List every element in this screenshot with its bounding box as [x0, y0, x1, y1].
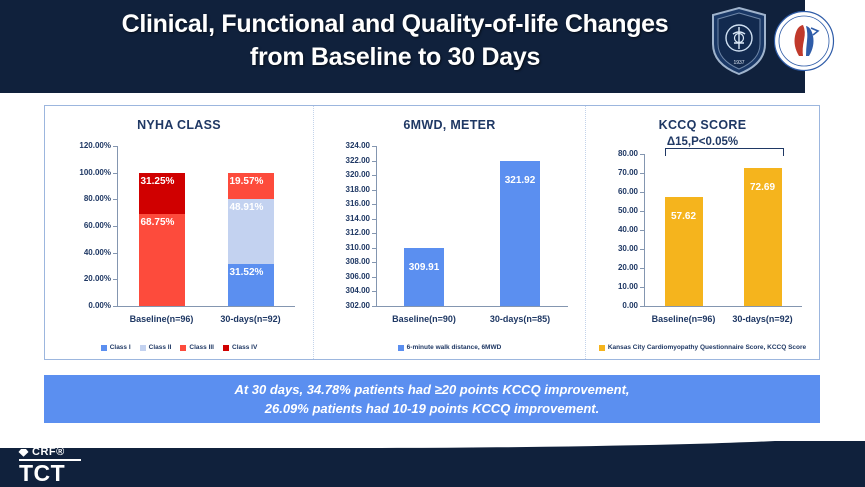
bar-segment: 68.75%: [139, 214, 185, 306]
tct-label: TCT: [19, 461, 81, 485]
plot-area-kccq: 80.0070.0060.0050.0040.0030.0020.0010.00…: [600, 154, 802, 306]
y-axis-tick-label: 10.00: [600, 282, 638, 291]
bar: 72.69: [744, 168, 782, 306]
conclusion-text: At 30 days, 34.78% patients had ≥20 poin…: [234, 380, 629, 418]
y-axis-tick: [372, 262, 376, 263]
y-axis-tick: [372, 161, 376, 162]
x-axis-category-label: Baseline(n=90): [369, 314, 479, 324]
y-axis-tick-label: 70.00: [600, 168, 638, 177]
bar-value-label: 57.62: [665, 211, 703, 222]
y-axis-tick-label: 60.00: [600, 187, 638, 196]
y-axis-tick-label: 302.00: [328, 301, 370, 310]
slide-footer: CRF® TCT: [0, 441, 865, 487]
y-axis-tick: [372, 277, 376, 278]
x-axis-line: [376, 306, 568, 307]
conclusion-line-2: 26.09% patients had 10-19 points KCCQ im…: [234, 399, 629, 418]
legend-label: Class II: [149, 344, 172, 351]
national-center-circular-logo: [773, 10, 835, 72]
y-axis-line: [117, 146, 118, 306]
y-axis-tick: [372, 248, 376, 249]
y-axis-tick: [640, 173, 644, 174]
legend-label: Class IV: [232, 344, 257, 351]
y-axis-tick: [640, 154, 644, 155]
bar-segment: 31.52%: [228, 264, 274, 306]
footer-brand-logo: CRF® TCT: [18, 446, 81, 485]
y-axis-tick: [113, 199, 117, 200]
legend-swatch: [223, 345, 229, 351]
legend-swatch: [180, 345, 186, 351]
chart-title-kccq: KCCQ SCORE: [586, 118, 819, 132]
y-axis-line: [376, 146, 377, 306]
bar-segment: 48.91%: [228, 199, 274, 264]
charts-panel: NYHA CLASS 120.00%100.00%80.00%60.00%40.…: [44, 105, 820, 360]
y-axis-tick: [372, 190, 376, 191]
bar: 57.62: [665, 197, 703, 306]
chart-title-nyha: NYHA CLASS: [45, 118, 313, 132]
y-axis-tick: [372, 306, 376, 307]
page-title-line-2: from Baseline to 30 Days: [0, 41, 790, 74]
bar-segment: 31.25%: [139, 173, 185, 215]
y-axis-tick: [372, 219, 376, 220]
legend-item[interactable]: Class II: [140, 344, 172, 351]
y-axis-tick: [372, 291, 376, 292]
y-axis-tick-label: 0.00%: [63, 301, 111, 310]
page-title-line-1: Clinical, Functional and Quality-of-life…: [0, 8, 790, 41]
y-axis-tick-label: 40.00%: [63, 248, 111, 257]
crf-label: CRF®: [32, 446, 65, 458]
legend-label: Class III: [189, 344, 214, 351]
y-axis-tick: [113, 306, 117, 307]
y-axis-tick: [372, 146, 376, 147]
y-axis-tick-label: 322.00: [328, 156, 370, 165]
legend-label: Kansas City Cardiomyopathy Questionnaire…: [608, 344, 806, 351]
legend-label: 6-minute walk distance, 6MWD: [407, 344, 502, 351]
institution-shield-logo: 1937: [710, 6, 768, 76]
bar-segment: 19.57%: [228, 173, 274, 199]
y-axis-tick: [640, 287, 644, 288]
shield-year-label: 1937: [733, 60, 744, 66]
x-axis-category-label: 30-days(n=85): [465, 314, 575, 324]
y-axis-tick-label: 20.00%: [63, 274, 111, 283]
y-axis-tick-label: 60.00%: [63, 221, 111, 230]
y-axis-tick-label: 306.00: [328, 272, 370, 281]
bar: 321.92: [500, 161, 540, 306]
y-axis-tick-label: 304.00: [328, 286, 370, 295]
y-axis-tick: [640, 249, 644, 250]
y-axis-tick-label: 318.00: [328, 185, 370, 194]
legend-swatch: [101, 345, 107, 351]
chart-6mwd: 6MWD, METER 324.00322.00320.00318.00316.…: [313, 106, 585, 359]
y-axis-tick-label: 324.00: [328, 141, 370, 150]
y-axis-tick-label: 316.00: [328, 199, 370, 208]
y-axis-line: [644, 154, 645, 306]
y-axis-tick-label: 312.00: [328, 228, 370, 237]
y-axis-tick-label: 50.00: [600, 206, 638, 215]
x-axis-category-label: 30-days(n=92): [708, 314, 818, 324]
plot-area-nyha: 120.00%100.00%80.00%60.00%40.00%20.00%0.…: [63, 146, 295, 306]
y-axis-tick: [113, 146, 117, 147]
x-axis-line: [117, 306, 295, 307]
legend-item[interactable]: Class I: [101, 344, 131, 351]
y-axis-tick-label: 320.00: [328, 170, 370, 179]
footer-swoosh-decoration: [0, 432, 865, 448]
bar-value-label: 31.25%: [141, 176, 175, 187]
y-axis-tick-label: 20.00: [600, 263, 638, 272]
chart-annotation-kccq: Δ15,P<0.05%: [586, 136, 819, 148]
chart-nyha-class: NYHA CLASS 120.00%100.00%80.00%60.00%40.…: [45, 106, 313, 359]
page-title: Clinical, Functional and Quality-of-life…: [0, 8, 790, 74]
diamond-icon: [18, 447, 29, 458]
chart-legend-nyha: Class IClass IIClass IIIClass IV: [45, 344, 313, 351]
y-axis-tick-label: 80.00: [600, 149, 638, 158]
y-axis-tick: [640, 192, 644, 193]
chart-legend-kccq: Kansas City Cardiomyopathy Questionnaire…: [586, 344, 819, 351]
y-axis-tick-label: 120.00%: [63, 141, 111, 150]
y-axis-tick: [640, 211, 644, 212]
y-axis-tick-label: 310.00: [328, 243, 370, 252]
legend-item[interactable]: Class III: [180, 344, 214, 351]
bar-value-label: 68.75%: [141, 217, 175, 228]
y-axis-tick: [113, 253, 117, 254]
y-axis-tick-label: 0.00: [600, 301, 638, 310]
legend-swatch: [140, 345, 146, 351]
y-axis-tick: [640, 268, 644, 269]
bar-value-label: 31.52%: [230, 267, 264, 278]
bar-value-label: 72.69: [744, 182, 782, 193]
bar-value-label: 309.91: [404, 262, 444, 273]
y-axis-tick: [113, 279, 117, 280]
charts-row: NYHA CLASS 120.00%100.00%80.00%60.00%40.…: [45, 106, 819, 359]
legend-item[interactable]: Kansas City Cardiomyopathy Questionnaire…: [599, 344, 806, 351]
y-axis-tick: [640, 230, 644, 231]
chart-legend-6mwd: 6-minute walk distance, 6MWD: [314, 344, 585, 351]
legend-swatch: [398, 345, 404, 351]
y-axis-tick-label: 30.00: [600, 244, 638, 253]
conclusion-line-1: At 30 days, 34.78% patients had ≥20 poin…: [234, 380, 629, 399]
y-axis-tick-label: 314.00: [328, 214, 370, 223]
header-logo-group: 1937: [805, 0, 865, 93]
crf-brand-row: CRF®: [18, 446, 81, 458]
legend-swatch: [599, 345, 605, 351]
bar-value-label: 321.92: [500, 175, 540, 186]
y-axis-tick-label: 40.00: [600, 225, 638, 234]
bar-value-label: 48.91%: [230, 202, 264, 213]
plot-area-6mwd: 324.00322.00320.00318.00316.00314.00312.…: [328, 146, 568, 306]
y-axis-tick: [372, 204, 376, 205]
legend-item[interactable]: 6-minute walk distance, 6MWD: [398, 344, 502, 351]
y-axis-tick: [372, 175, 376, 176]
significance-bracket: [665, 148, 784, 156]
x-axis-line: [644, 306, 802, 307]
y-axis-tick-label: 80.00%: [63, 194, 111, 203]
legend-label: Class I: [110, 344, 131, 351]
y-axis-tick-label: 308.00: [328, 257, 370, 266]
y-axis-tick: [372, 233, 376, 234]
chart-title-6mwd: 6MWD, METER: [314, 118, 585, 132]
bar: 309.91: [404, 248, 444, 306]
chart-kccq-score: KCCQ SCORE Δ15,P<0.05% 80.0070.0060.0050…: [585, 106, 819, 359]
y-axis-tick-label: 100.00%: [63, 168, 111, 177]
slide-header: Clinical, Functional and Quality-of-life…: [0, 0, 805, 93]
bar-value-label: 19.57%: [230, 176, 264, 187]
y-axis-tick: [113, 226, 117, 227]
y-axis-tick: [640, 306, 644, 307]
conclusion-banner: At 30 days, 34.78% patients had ≥20 poin…: [44, 375, 820, 423]
y-axis-tick: [113, 173, 117, 174]
legend-item[interactable]: Class IV: [223, 344, 257, 351]
x-axis-category-label: 30-days(n=92): [196, 314, 306, 324]
